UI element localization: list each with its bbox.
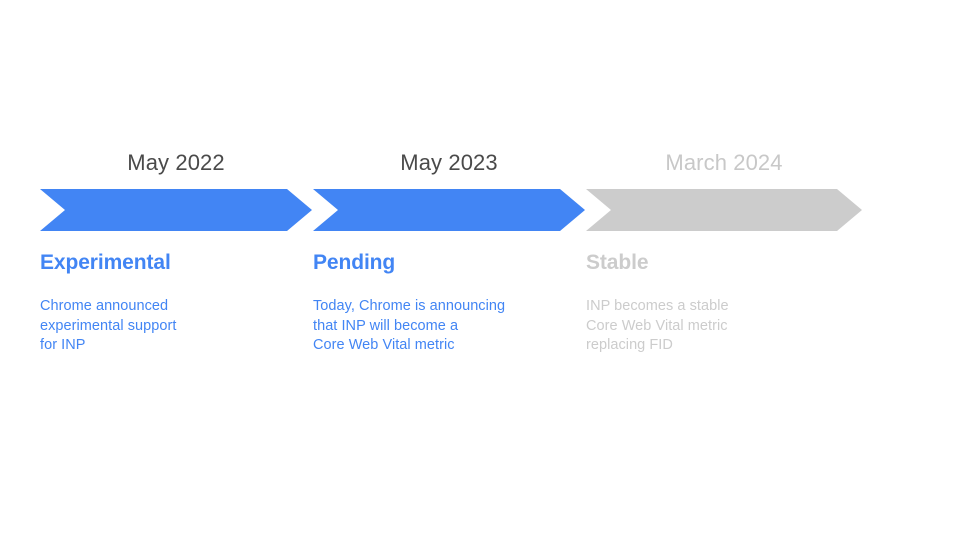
stage-date-label: May 2022 xyxy=(40,148,312,178)
stage-date-label: May 2023 xyxy=(313,148,585,178)
timeline-stage-experimental: May 2022 Experimental Chrome announced e… xyxy=(40,148,312,356)
stage-heading: Experimental xyxy=(40,249,312,277)
timeline-stage-pending: May 2023 Pending Today, Chrome is announ… xyxy=(313,148,585,356)
stage-arrow-container xyxy=(586,189,862,231)
stage-description: Today, Chrome is announcing that INP wil… xyxy=(313,297,585,356)
stage-description: Chrome announced experimental support fo… xyxy=(40,297,312,356)
stage-arrow-container xyxy=(40,189,312,231)
stage-date-label: March 2024 xyxy=(586,148,862,178)
chevron-arrow-icon xyxy=(40,189,312,231)
stage-description: INP becomes a stable Core Web Vital metr… xyxy=(586,297,862,356)
stage-heading: Stable xyxy=(586,249,862,277)
stage-arrow-container xyxy=(313,189,585,231)
stage-heading: Pending xyxy=(313,249,585,277)
timeline-stage-stable: March 2024 Stable INP becomes a stable C… xyxy=(586,148,862,356)
chevron-arrow-icon xyxy=(586,189,862,231)
chevron-arrow-icon xyxy=(313,189,585,231)
timeline-diagram: May 2022 Experimental Chrome announced e… xyxy=(0,0,960,540)
